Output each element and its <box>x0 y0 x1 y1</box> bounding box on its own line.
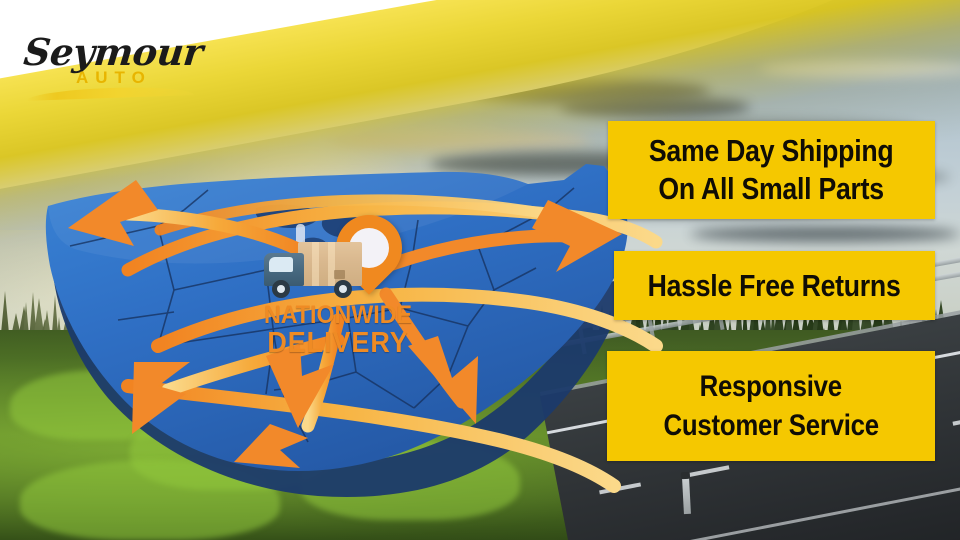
callout-line: Hassle Free Returns <box>648 267 901 304</box>
lane-dash <box>952 414 960 426</box>
callout-line: Customer Service <box>663 406 878 445</box>
truck-cargo-box <box>298 242 362 286</box>
truck-wheel <box>334 280 352 298</box>
nationwide-delivery-label: NATIONWIDE DELIVERY <box>248 303 428 358</box>
callout-line: Responsive <box>700 367 842 406</box>
promo-banner-canvas: [] <box>0 0 960 540</box>
delivery-line: DELIVERY <box>254 329 421 359</box>
nationwide-delivery-badge: NATIONWIDE DELIVERY <box>248 215 428 365</box>
callout-line: On All Small Parts <box>659 170 884 208</box>
callout-banner-hassle-free-returns[interactable]: Hassle Free Returns <box>614 251 935 320</box>
callout-banner-responsive-customer-service[interactable]: Responsive Customer Service <box>607 351 935 461</box>
nationwide-line: NATIONWIDE <box>254 303 421 329</box>
callout-banner-same-day-shipping[interactable]: Same Day Shipping On All Small Parts <box>608 121 935 219</box>
delivery-truck-icon <box>258 242 366 304</box>
truck-box-stripe <box>312 242 319 286</box>
brand-logo-auto-text: AUTO <box>76 68 152 88</box>
brand-logo[interactable]: Seymour AUTO <box>18 14 198 102</box>
truck-window <box>269 257 293 272</box>
truck-wheel <box>272 280 290 298</box>
cloud <box>690 226 960 242</box>
truck-box-stripe <box>328 242 335 286</box>
callout-line: Same Day Shipping <box>649 132 894 170</box>
